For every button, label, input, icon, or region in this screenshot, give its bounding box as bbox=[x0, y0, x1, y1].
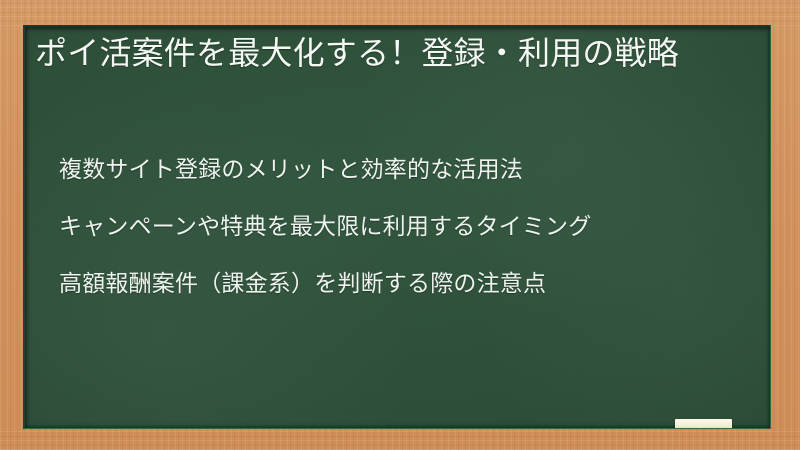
chalk-stick bbox=[675, 419, 732, 429]
frame-grain-bottom bbox=[0, 428, 800, 450]
bullet-item-2: キャンペーンや特典を最大限に利用するタイミング bbox=[59, 209, 749, 244]
bullet-item-1: 複数サイト登録のメリットと効率的な活用法 bbox=[59, 152, 749, 187]
slide-title: ポイ活案件を最大化する！登録・利用の戦略 bbox=[35, 31, 750, 75]
bullet-item-3: 高額報酬案件（課金系）を判断する際の注意点 bbox=[59, 266, 749, 301]
chalkboard-slide: ポイ活案件を最大化する！登録・利用の戦略 複数サイト登録のメリットと効率的な活用… bbox=[0, 0, 800, 450]
chalkboard-surface: ポイ活案件を最大化する！登録・利用の戦略 複数サイト登録のメリットと効率的な活用… bbox=[23, 25, 771, 429]
frame-grain-top bbox=[0, 0, 800, 26]
bullet-list: 複数サイト登録のメリットと効率的な活用法 キャンペーンや特典を最大限に利用するタ… bbox=[59, 152, 749, 301]
